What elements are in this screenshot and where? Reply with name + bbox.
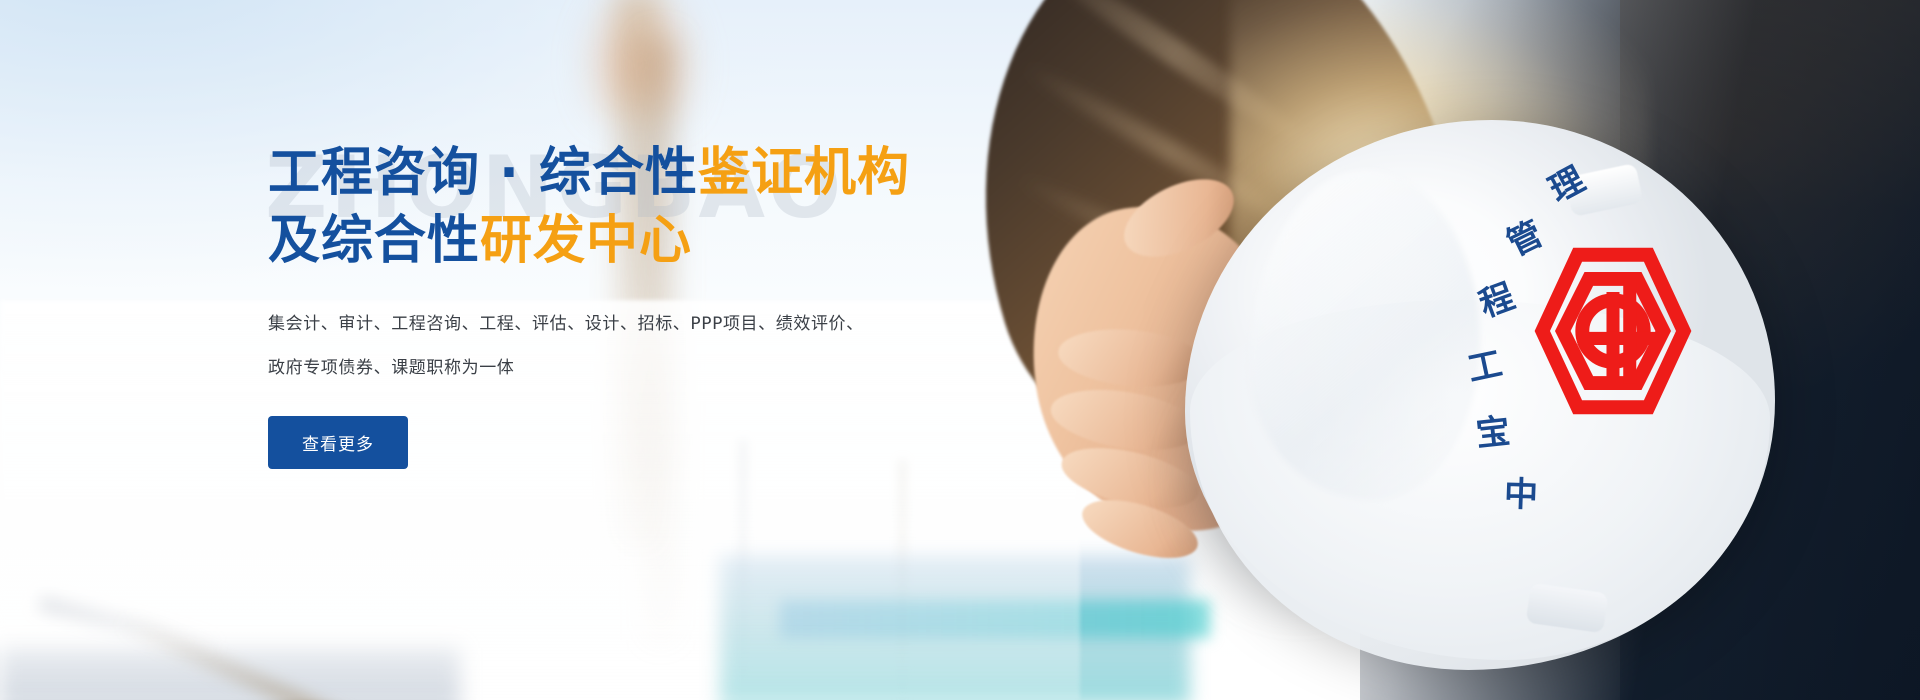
view-more-button[interactable]: 查看更多 [268,416,408,469]
hero-content: 工程咨询 · 综合性鉴证机构 及综合性研发中心 集会计、审计、工程咨询、工程、评… [268,140,1048,469]
headline-line1-orange: 鉴证机构 [698,143,910,203]
headline-line2-blue: 及综合性 [268,211,480,271]
page-title: 工程咨询 · 综合性鉴证机构 及综合性研发中心 [268,140,1048,275]
hard-hat-brand-char: 理 [1544,162,1590,208]
hard-hat-brand-char: 中 [1503,477,1538,512]
headline-line-2: 及综合性研发中心 [268,208,1048,276]
zhongbao-logo-icon [1520,238,1706,424]
headline-line2-orange: 研发中心 [480,211,692,271]
hard-hat-brand-char: 工 [1465,347,1505,387]
hero-description-line-2: 政府专项债券、课题职称为一体 [268,347,988,390]
hard-hat-brand-char: 宝 [1474,414,1511,451]
hard-hat-brand-char: 程 [1475,279,1519,323]
headline-line-1: 工程咨询 · 综合性鉴证机构 [268,140,1048,208]
hero-banner: 理 管 程 工 宝 中 ZHONGBAO 工程咨询 · 综合性鉴证机构 及综合性… [0,0,1920,700]
headline-line1-blue: 工程咨询 · 综合性 [268,143,698,203]
hero-description-line-1: 集会计、审计、工程咨询、工程、评估、设计、招标、PPP项目、绩效评价、 [268,303,988,346]
hero-description: 集会计、审计、工程咨询、工程、评估、设计、招标、PPP项目、绩效评价、 政府专项… [268,303,988,390]
